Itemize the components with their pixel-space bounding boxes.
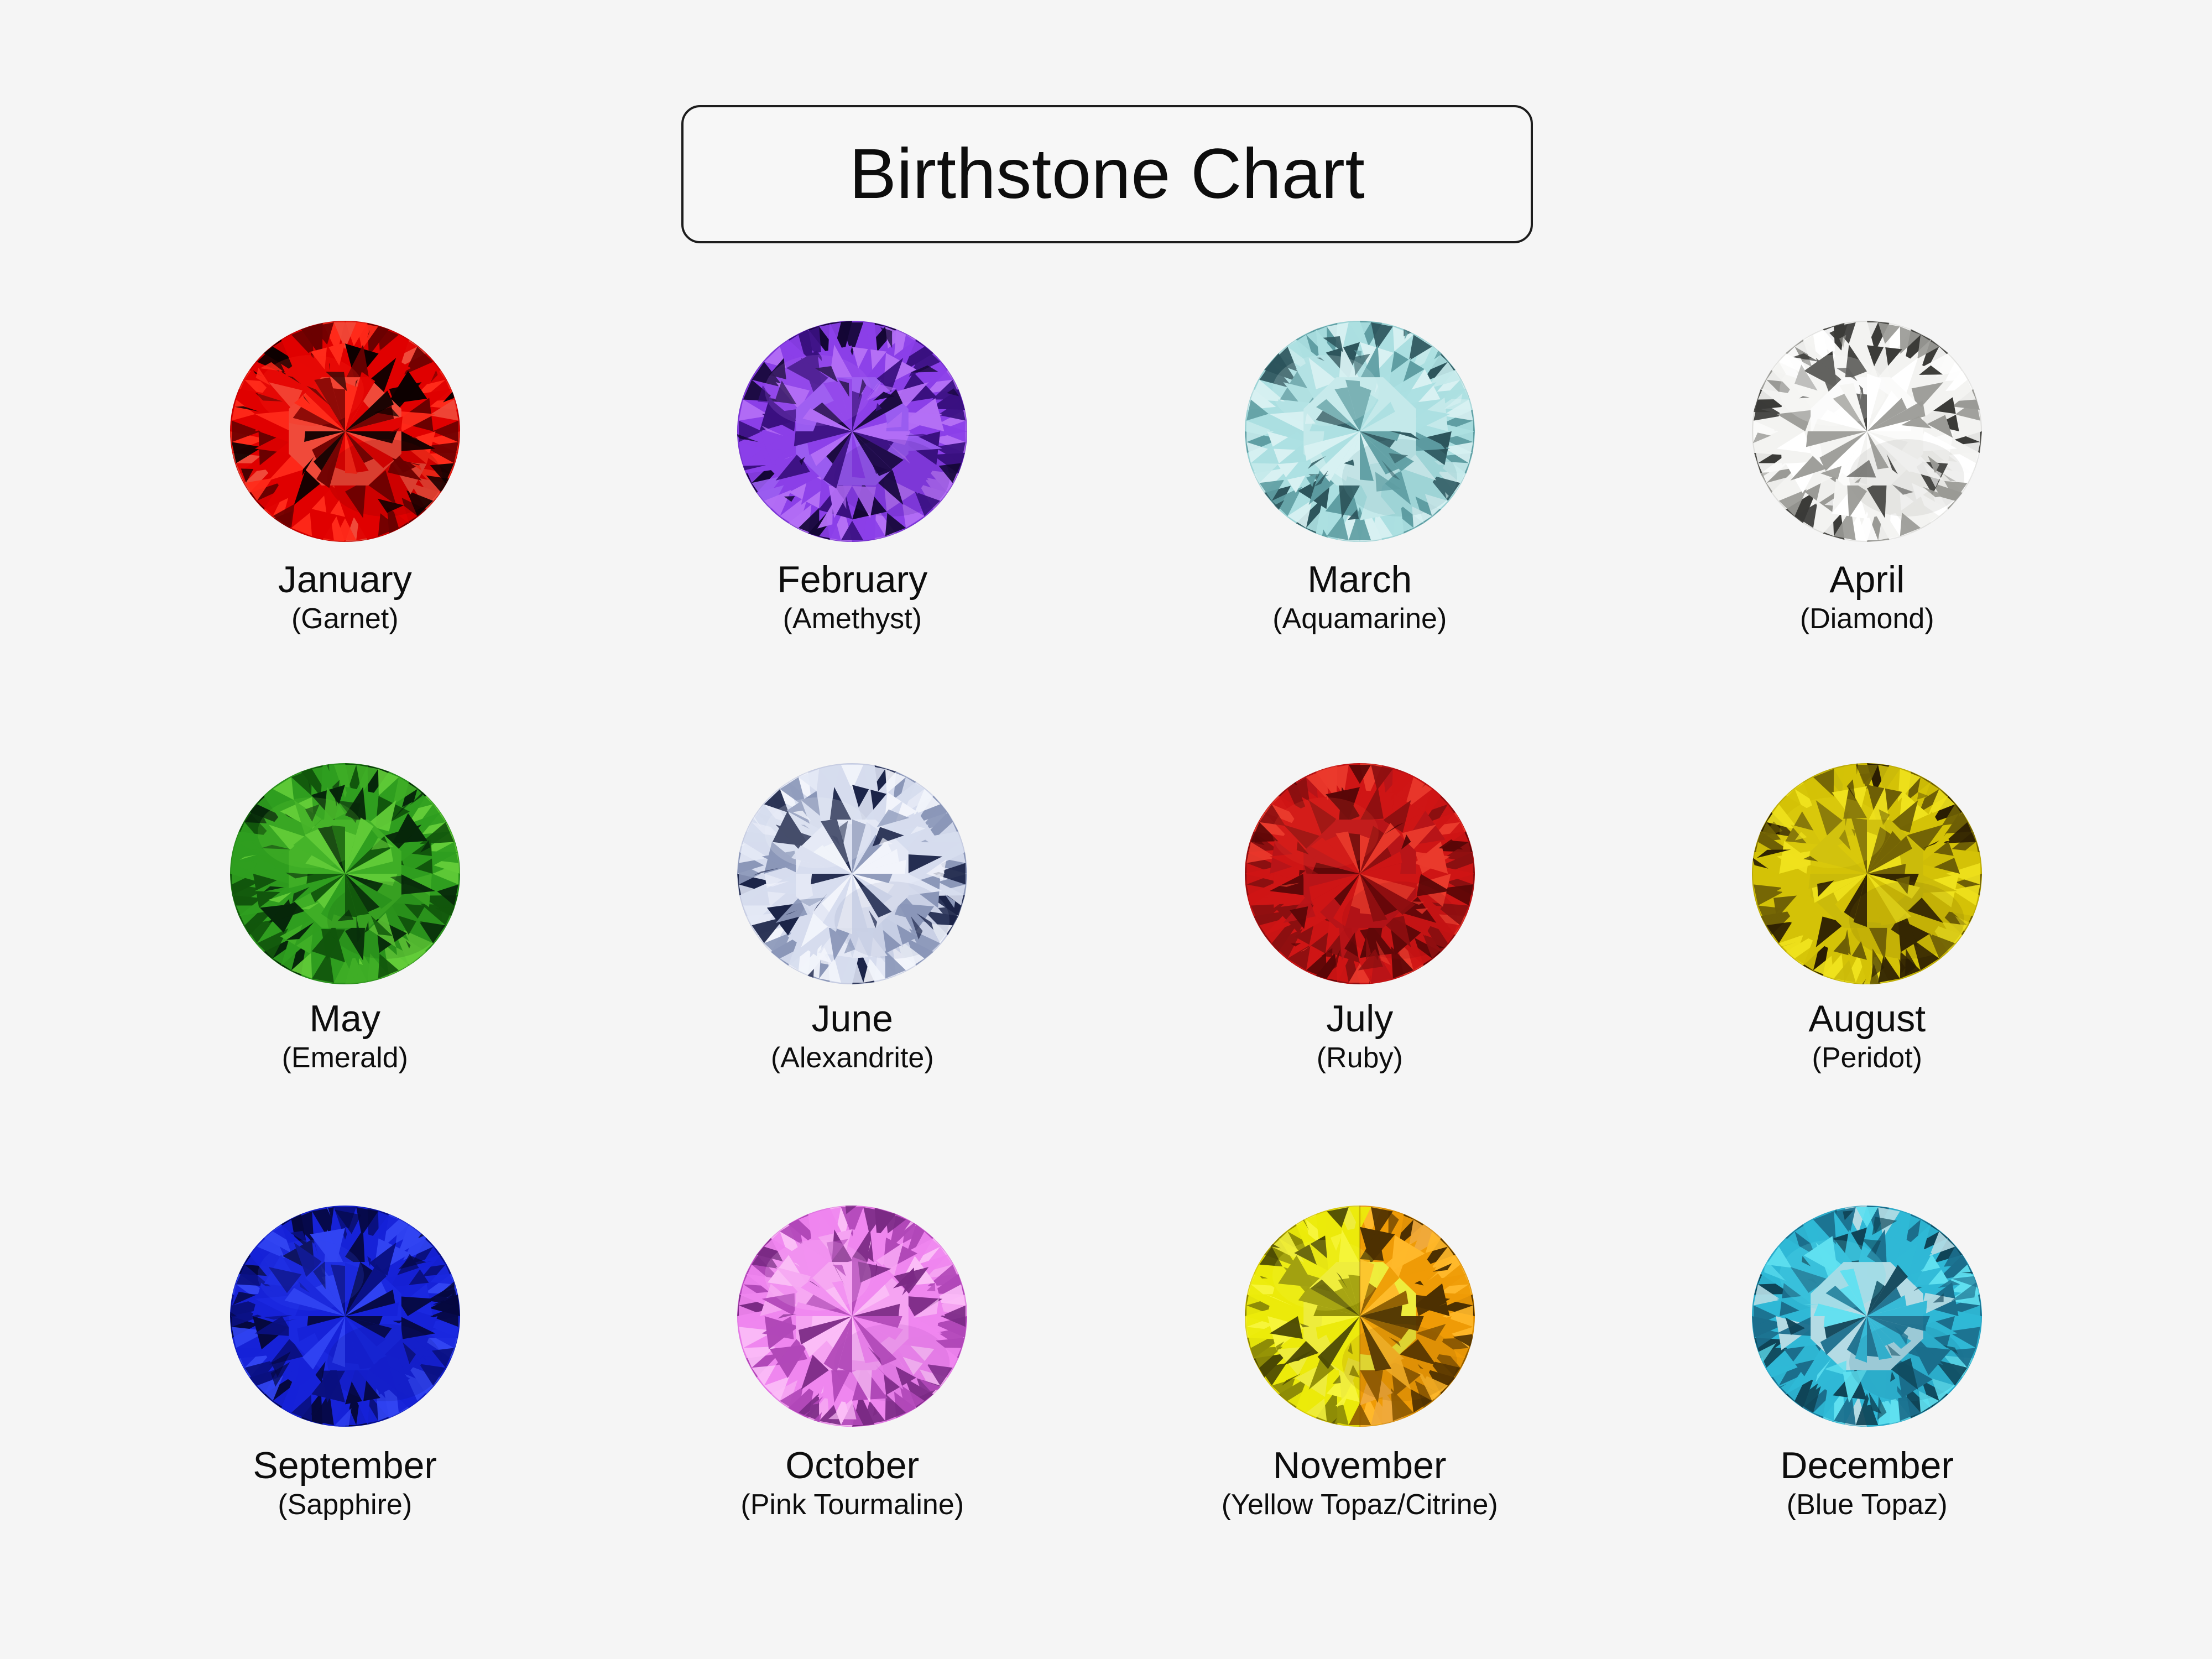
- round-brilliant-gem-icon: [1748, 758, 1986, 990]
- stone-label: (Pink Tourmaline): [740, 1490, 964, 1520]
- title-plate: Birthstone Chart: [681, 105, 1533, 243]
- month-label: December: [1780, 1447, 1954, 1485]
- round-brilliant-gem-icon: [1241, 315, 1479, 547]
- birthstone-cell-november: November(Yellow Topaz/Citrine): [1106, 1200, 1614, 1642]
- round-brilliant-gem-icon: [1241, 1200, 1479, 1432]
- stone-label: (Emerald): [282, 1044, 408, 1073]
- birthstone-cell-july: July(Ruby): [1106, 758, 1614, 1200]
- birthstone-cell-october: October(Pink Tourmaline): [599, 1200, 1107, 1642]
- month-label: February: [777, 561, 927, 599]
- round-brilliant-gem-icon: [1748, 315, 1986, 547]
- birthstone-grid: January(Garnet)February(Amethyst)March(A…: [91, 315, 2121, 1642]
- stone-label: (Aquamarine): [1272, 604, 1447, 634]
- month-label: September: [253, 1447, 437, 1485]
- birthstone-cell-april: April(Diamond): [1614, 315, 2121, 758]
- round-brilliant-gem-icon: [226, 315, 464, 547]
- month-label: March: [1307, 561, 1412, 599]
- month-label: January: [278, 561, 412, 599]
- birthstone-cell-august: August(Peridot): [1614, 758, 2121, 1200]
- month-label: May: [310, 1000, 380, 1038]
- birthstone-chart-page: Birthstone Chart January(Garnet)February…: [0, 0, 2212, 1659]
- stone-label: (Garnet): [291, 604, 399, 634]
- stone-label: (Alexandrite): [771, 1044, 934, 1073]
- month-label: October: [785, 1447, 919, 1485]
- round-brilliant-gem-icon: [226, 758, 464, 990]
- month-label: July: [1326, 1000, 1393, 1038]
- round-brilliant-gem-icon: [1241, 758, 1479, 990]
- birthstone-cell-june: June(Alexandrite): [599, 758, 1107, 1200]
- stone-label: (Diamond): [1800, 604, 1934, 634]
- round-brilliant-gem-icon: [733, 1200, 971, 1432]
- round-brilliant-gem-icon: [1748, 1200, 1986, 1432]
- birthstone-cell-february: February(Amethyst): [599, 315, 1107, 758]
- page-title: Birthstone Chart: [849, 139, 1365, 210]
- stone-label: (Sapphire): [278, 1490, 412, 1520]
- stone-label: (Yellow Topaz/Citrine): [1222, 1490, 1498, 1520]
- month-label: November: [1273, 1447, 1447, 1485]
- month-label: August: [1808, 1000, 1926, 1038]
- birthstone-cell-january: January(Garnet): [91, 315, 599, 758]
- stone-label: (Blue Topaz): [1787, 1490, 1948, 1520]
- birthstone-cell-may: May(Emerald): [91, 758, 599, 1200]
- round-brilliant-gem-icon: [226, 1200, 464, 1432]
- stone-label: (Amethyst): [783, 604, 922, 634]
- birthstone-cell-march: March(Aquamarine): [1106, 315, 1614, 758]
- month-label: April: [1829, 561, 1905, 599]
- birthstone-cell-december: December(Blue Topaz): [1614, 1200, 2121, 1642]
- stone-label: (Peridot): [1812, 1044, 1922, 1073]
- birthstone-cell-september: September(Sapphire): [91, 1200, 599, 1642]
- month-label: June: [812, 1000, 893, 1038]
- stone-label: (Ruby): [1317, 1044, 1403, 1073]
- round-brilliant-gem-icon: [733, 758, 971, 990]
- round-brilliant-gem-icon: [733, 315, 971, 547]
